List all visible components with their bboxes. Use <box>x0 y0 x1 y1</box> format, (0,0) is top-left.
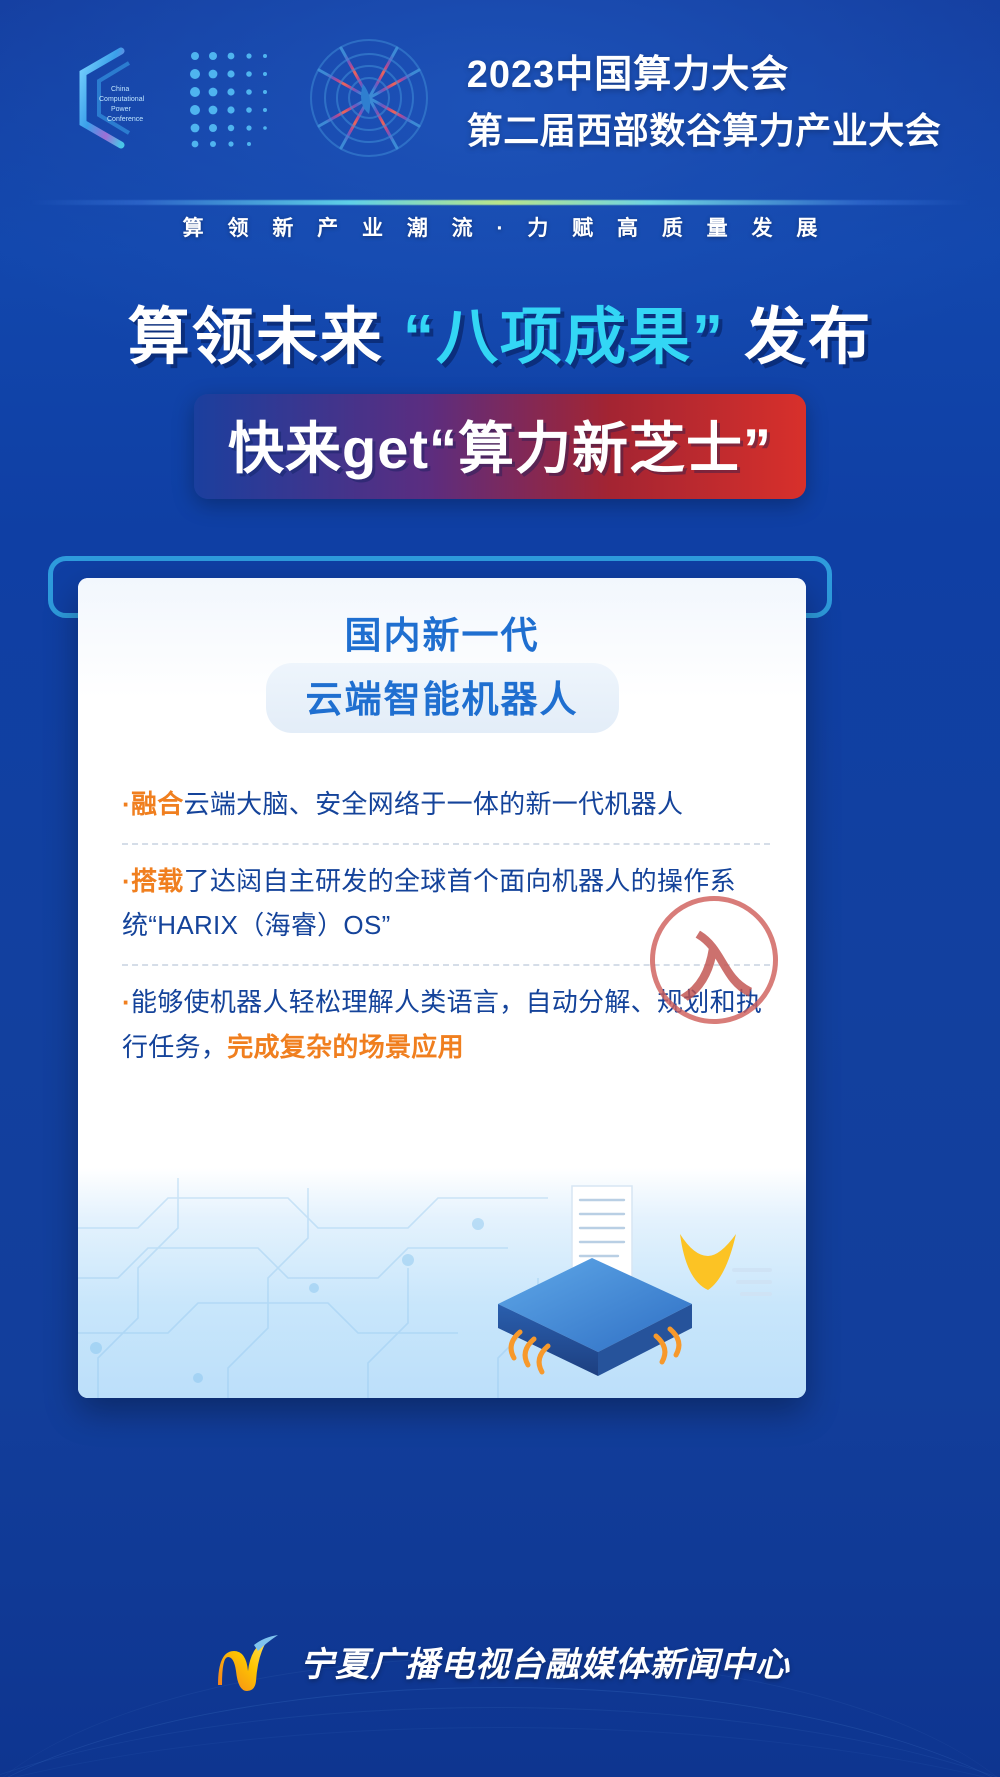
headline-line-2-pill: 快来get“算力新芝士” <box>194 394 806 499</box>
svg-text:Conference: Conference <box>107 116 143 123</box>
card-illustration <box>78 1168 806 1398</box>
bullet-text: 云端大脑、安全网络于一体的新一代机器人 <box>184 789 684 819</box>
bullet-marker: · <box>122 866 131 896</box>
headline-block: 算领未来 “八项成果” 发布 快来get“算力新芝士” <box>0 286 1000 499</box>
bullet-marker: · <box>122 789 131 819</box>
result-card: 国内新一代 云端智能机器人 ·融合云端大脑、安全网络于一体的新一代机器人 ·搭载… <box>78 578 806 1398</box>
bullet-highlight: 搭载 <box>131 866 184 896</box>
conference-title-line2: 第二届西部数谷算力产业大会 <box>467 102 942 154</box>
ningxia-media-n-logo-icon <box>210 1631 286 1691</box>
dot-matrix-graphic <box>185 42 277 154</box>
footer-text: 宁夏广播电视台融媒体新闻中心 <box>300 1637 790 1686</box>
svg-text:Power: Power <box>111 106 132 113</box>
header: China Computational Power Conference <box>0 0 1000 196</box>
headline-accent: “八项成果” <box>403 303 725 372</box>
speed-lines-icon <box>728 1262 776 1302</box>
data-fan-logo-icon <box>303 32 435 164</box>
headline-prefix: 算领未来 <box>128 303 403 372</box>
list-item: ·融合云端大脑、安全网络于一体的新一代机器人 <box>122 768 770 843</box>
bullet-marker: · <box>122 987 131 1017</box>
headline-suffix: 发布 <box>725 303 872 372</box>
svg-text:China: China <box>111 86 129 93</box>
conference-title-line1: 2023中国算力大会 <box>467 43 942 98</box>
slogan-bar: 算 领 新 产 业 潮 流 · 力 赋 高 质 量 发 展 <box>0 196 1000 250</box>
footer: 宁夏广播电视台融媒体新闻中心 <box>0 1631 1000 1691</box>
bullet-highlight: 完成复杂的场景应用 <box>227 1032 464 1062</box>
conference-title: 2023中国算力大会 第二届西部数谷算力产业大会 <box>467 43 942 154</box>
bullet-text: 了达闼自主研发的全球首个面向机器人的操作系统“HARIX（海睿）OS” <box>122 866 736 941</box>
bullet-highlight: 融合 <box>131 789 184 819</box>
card-title-badge: 云端智能机器人 <box>266 663 619 733</box>
slogan-divider-line <box>30 200 970 205</box>
background-wave-lines <box>0 1457 1000 1777</box>
card-title-line1: 国内新一代 <box>78 612 806 659</box>
slogan-text: 算 领 新 产 业 潮 流 · 力 赋 高 质 量 发 展 <box>0 212 1000 242</box>
headline-line-1: 算领未来 “八项成果” 发布 <box>0 286 1000 376</box>
svg-text:Computational: Computational <box>99 96 145 103</box>
card-title: 国内新一代 云端智能机器人 <box>78 612 806 733</box>
stamp-text: 入 <box>673 904 754 1016</box>
china-computational-power-conference-logo-icon: China Computational Power Conference <box>59 39 177 157</box>
